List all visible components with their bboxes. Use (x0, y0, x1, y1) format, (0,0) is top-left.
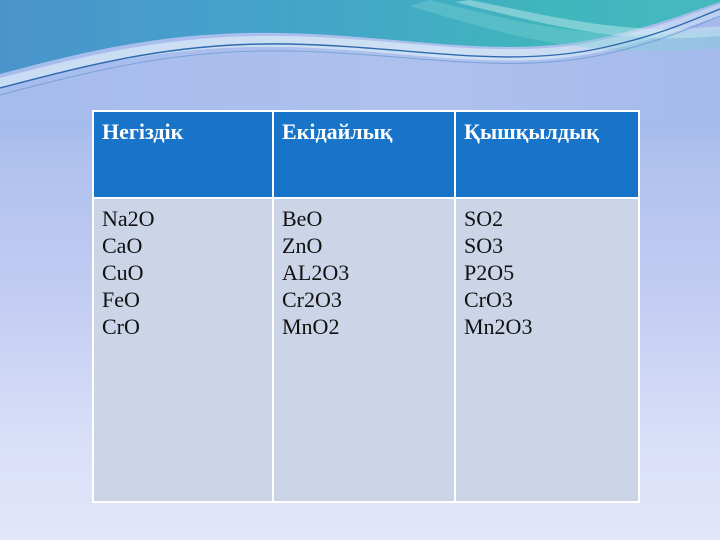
table-row: Na2O CaO CuO FeO CrO BeO ZnO AL2O3 Cr2O3… (92, 199, 640, 503)
cell-basic-oxides: Na2O CaO CuO FeO CrO (92, 199, 274, 503)
slide-canvas: Негіздік Екідайлық Қышқылдық Na2O CaO Cu… (0, 0, 720, 540)
oxide-classification-table: Негіздік Екідайлық Қышқылдық Na2O CaO Cu… (92, 110, 640, 503)
table-header-row: Негіздік Екідайлық Қышқылдық (92, 110, 640, 199)
column-header-acidic: Қышқылдық (456, 110, 640, 199)
decorative-wave-graphic (0, 0, 720, 120)
cell-amphoteric-oxides: BeO ZnO AL2O3 Cr2O3 MnO2 (274, 199, 456, 503)
basic-oxides-list: Na2O CaO CuO FeO CrO (102, 205, 264, 340)
cell-acidic-oxides: SO2 SO3 P2O5 CrO3 Mn2O3 (456, 199, 640, 503)
acidic-oxides-list: SO2 SO3 P2O5 CrO3 Mn2O3 (464, 205, 630, 340)
amphoteric-oxides-list: BeO ZnO AL2O3 Cr2O3 MnO2 (282, 205, 446, 340)
column-header-basic: Негіздік (92, 110, 274, 199)
column-header-amphoteric: Екідайлық (274, 110, 456, 199)
